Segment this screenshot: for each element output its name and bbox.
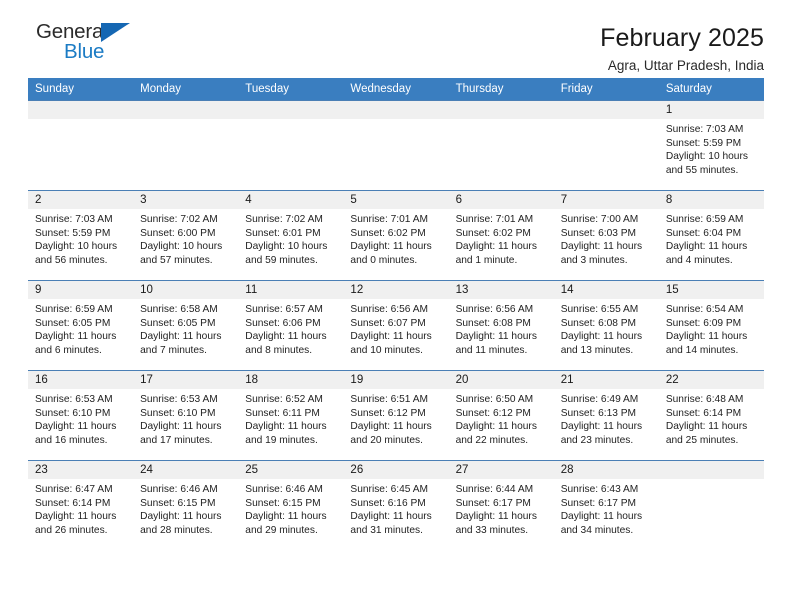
- sunrise-text: Sunrise: 7:02 AM: [245, 213, 337, 227]
- daylight-text: Daylight: 11 hours and 11 minutes.: [456, 330, 548, 357]
- sunset-text: Sunset: 6:03 PM: [561, 227, 653, 241]
- sunset-text: Sunset: 6:07 PM: [350, 317, 442, 331]
- sunset-text: Sunset: 6:00 PM: [140, 227, 232, 241]
- day-number: 6: [449, 191, 554, 209]
- sunrise-text: Sunrise: 6:53 AM: [35, 393, 127, 407]
- day-details: Sunrise: 7:03 AMSunset: 5:59 PMDaylight:…: [28, 209, 133, 267]
- daylight-text: Daylight: 11 hours and 4 minutes.: [666, 240, 758, 267]
- sunset-text: Sunset: 6:17 PM: [456, 497, 548, 511]
- day-number: 25: [238, 461, 343, 479]
- day-details: Sunrise: 6:53 AMSunset: 6:10 PMDaylight:…: [133, 389, 238, 447]
- daylight-text: Daylight: 11 hours and 13 minutes.: [561, 330, 653, 357]
- sunset-text: Sunset: 6:02 PM: [350, 227, 442, 241]
- logo-text-blue: Blue: [64, 42, 104, 63]
- sunset-text: Sunset: 5:59 PM: [666, 137, 758, 151]
- day-number: 1: [659, 101, 764, 119]
- weekday-header-tuesday: Tuesday: [238, 78, 343, 101]
- calendar-cell-day-1[interactable]: 1Sunrise: 7:03 AMSunset: 5:59 PMDaylight…: [659, 101, 764, 191]
- sunrise-text: Sunrise: 6:44 AM: [456, 483, 548, 497]
- day-details: Sunrise: 6:44 AMSunset: 6:17 PMDaylight:…: [449, 479, 554, 537]
- day-details: Sunrise: 6:43 AMSunset: 6:17 PMDaylight:…: [554, 479, 659, 537]
- day-details: Sunrise: 6:53 AMSunset: 6:10 PMDaylight:…: [28, 389, 133, 447]
- day-number: 8: [659, 191, 764, 209]
- calendar-cell-day-25[interactable]: 25Sunrise: 6:46 AMSunset: 6:15 PMDayligh…: [238, 461, 343, 551]
- calendar-cell-day-4[interactable]: 4Sunrise: 7:02 AMSunset: 6:01 PMDaylight…: [238, 191, 343, 281]
- calendar-grid: SundayMondayTuesdayWednesdayThursdayFrid…: [28, 78, 764, 551]
- sunset-text: Sunset: 6:12 PM: [350, 407, 442, 421]
- calendar-page: General Blue February 2025 Agra, Uttar P…: [0, 0, 792, 612]
- sunset-text: Sunset: 6:11 PM: [245, 407, 337, 421]
- daylight-text: Daylight: 10 hours and 57 minutes.: [140, 240, 232, 267]
- calendar-cell-day-28[interactable]: 28Sunrise: 6:43 AMSunset: 6:17 PMDayligh…: [554, 461, 659, 551]
- sunset-text: Sunset: 6:08 PM: [561, 317, 653, 331]
- daylight-text: Daylight: 11 hours and 17 minutes.: [140, 420, 232, 447]
- sunrise-text: Sunrise: 6:52 AM: [245, 393, 337, 407]
- sunrise-text: Sunrise: 7:01 AM: [456, 213, 548, 227]
- day-number: 9: [28, 281, 133, 299]
- day-number: 11: [238, 281, 343, 299]
- daylight-text: Daylight: 11 hours and 7 minutes.: [140, 330, 232, 357]
- sunset-text: Sunset: 5:59 PM: [35, 227, 127, 241]
- calendar-cell-day-5[interactable]: 5Sunrise: 7:01 AMSunset: 6:02 PMDaylight…: [343, 191, 448, 281]
- sunset-text: Sunset: 6:08 PM: [456, 317, 548, 331]
- day-number: [659, 461, 764, 479]
- calendar-cell-day-26[interactable]: 26Sunrise: 6:45 AMSunset: 6:16 PMDayligh…: [343, 461, 448, 551]
- day-number: 24: [133, 461, 238, 479]
- calendar-cell-day-8[interactable]: 8Sunrise: 6:59 AMSunset: 6:04 PMDaylight…: [659, 191, 764, 281]
- day-details: Sunrise: 6:46 AMSunset: 6:15 PMDaylight:…: [133, 479, 238, 537]
- calendar-cell-day-20[interactable]: 20Sunrise: 6:50 AMSunset: 6:12 PMDayligh…: [449, 371, 554, 461]
- day-number: 18: [238, 371, 343, 389]
- daylight-text: Daylight: 10 hours and 59 minutes.: [245, 240, 337, 267]
- sunset-text: Sunset: 6:10 PM: [140, 407, 232, 421]
- calendar-cell-day-23[interactable]: 23Sunrise: 6:47 AMSunset: 6:14 PMDayligh…: [28, 461, 133, 551]
- sunrise-text: Sunrise: 6:54 AM: [666, 303, 758, 317]
- day-number: [238, 101, 343, 119]
- daylight-text: Daylight: 11 hours and 23 minutes.: [561, 420, 653, 447]
- day-details: Sunrise: 6:50 AMSunset: 6:12 PMDaylight:…: [449, 389, 554, 447]
- calendar-cell-empty: [238, 101, 343, 191]
- day-number: [133, 101, 238, 119]
- daylight-text: Daylight: 10 hours and 56 minutes.: [35, 240, 127, 267]
- calendar-cell-day-16[interactable]: 16Sunrise: 6:53 AMSunset: 6:10 PMDayligh…: [28, 371, 133, 461]
- daylight-text: Daylight: 11 hours and 1 minute.: [456, 240, 548, 267]
- day-details: Sunrise: 6:48 AMSunset: 6:14 PMDaylight:…: [659, 389, 764, 447]
- calendar-week-row: 23Sunrise: 6:47 AMSunset: 6:14 PMDayligh…: [28, 461, 764, 551]
- sunset-text: Sunset: 6:17 PM: [561, 497, 653, 511]
- day-number: 14: [554, 281, 659, 299]
- weekday-header-sunday: Sunday: [28, 78, 133, 101]
- calendar-cell-day-21[interactable]: 21Sunrise: 6:49 AMSunset: 6:13 PMDayligh…: [554, 371, 659, 461]
- day-details: Sunrise: 6:59 AMSunset: 6:05 PMDaylight:…: [28, 299, 133, 357]
- sunrise-text: Sunrise: 6:47 AM: [35, 483, 127, 497]
- day-number: 5: [343, 191, 448, 209]
- sunrise-text: Sunrise: 6:45 AM: [350, 483, 442, 497]
- sunrise-text: Sunrise: 6:59 AM: [35, 303, 127, 317]
- day-details: Sunrise: 6:59 AMSunset: 6:04 PMDaylight:…: [659, 209, 764, 267]
- calendar-cell-day-7[interactable]: 7Sunrise: 7:00 AMSunset: 6:03 PMDaylight…: [554, 191, 659, 281]
- page-header: General Blue February 2025 Agra, Uttar P…: [28, 0, 764, 72]
- day-details: Sunrise: 6:49 AMSunset: 6:13 PMDaylight:…: [554, 389, 659, 447]
- day-number: 4: [238, 191, 343, 209]
- day-details: Sunrise: 7:02 AMSunset: 6:01 PMDaylight:…: [238, 209, 343, 267]
- sunrise-text: Sunrise: 6:48 AM: [666, 393, 758, 407]
- day-number: 21: [554, 371, 659, 389]
- general-blue-logo[interactable]: General Blue: [28, 22, 138, 70]
- calendar-cell-day-14[interactable]: 14Sunrise: 6:55 AMSunset: 6:08 PMDayligh…: [554, 281, 659, 371]
- day-number: 12: [343, 281, 448, 299]
- day-details: Sunrise: 6:55 AMSunset: 6:08 PMDaylight:…: [554, 299, 659, 357]
- day-details: Sunrise: 6:58 AMSunset: 6:05 PMDaylight:…: [133, 299, 238, 357]
- calendar-cell-day-22[interactable]: 22Sunrise: 6:48 AMSunset: 6:14 PMDayligh…: [659, 371, 764, 461]
- sunset-text: Sunset: 6:06 PM: [245, 317, 337, 331]
- sunset-text: Sunset: 6:15 PM: [245, 497, 337, 511]
- sunrise-text: Sunrise: 6:50 AM: [456, 393, 548, 407]
- calendar-cell-empty: [28, 101, 133, 191]
- calendar-cell-day-24[interactable]: 24Sunrise: 6:46 AMSunset: 6:15 PMDayligh…: [133, 461, 238, 551]
- daylight-text: Daylight: 11 hours and 25 minutes.: [666, 420, 758, 447]
- day-details: Sunrise: 7:03 AMSunset: 5:59 PMDaylight:…: [659, 119, 764, 177]
- calendar-cell-day-2[interactable]: 2Sunrise: 7:03 AMSunset: 5:59 PMDaylight…: [28, 191, 133, 281]
- calendar-body: 1Sunrise: 7:03 AMSunset: 5:59 PMDaylight…: [28, 101, 764, 551]
- day-details: Sunrise: 6:54 AMSunset: 6:09 PMDaylight:…: [659, 299, 764, 357]
- day-details: Sunrise: 6:56 AMSunset: 6:08 PMDaylight:…: [449, 299, 554, 357]
- calendar-cell-day-9[interactable]: 9Sunrise: 6:59 AMSunset: 6:05 PMDaylight…: [28, 281, 133, 371]
- day-details: Sunrise: 6:45 AMSunset: 6:16 PMDaylight:…: [343, 479, 448, 537]
- sunrise-text: Sunrise: 7:03 AM: [666, 123, 758, 137]
- weekday-header-monday: Monday: [133, 78, 238, 101]
- sunset-text: Sunset: 6:14 PM: [666, 407, 758, 421]
- daylight-text: Daylight: 11 hours and 16 minutes.: [35, 420, 127, 447]
- day-number: [554, 101, 659, 119]
- sunset-text: Sunset: 6:16 PM: [350, 497, 442, 511]
- sunrise-text: Sunrise: 6:51 AM: [350, 393, 442, 407]
- day-details: Sunrise: 7:00 AMSunset: 6:03 PMDaylight:…: [554, 209, 659, 267]
- calendar-cell-day-18[interactable]: 18Sunrise: 6:52 AMSunset: 6:11 PMDayligh…: [238, 371, 343, 461]
- calendar-cell-empty: [554, 101, 659, 191]
- sunrise-text: Sunrise: 6:46 AM: [140, 483, 232, 497]
- sunrise-text: Sunrise: 6:53 AM: [140, 393, 232, 407]
- daylight-text: Daylight: 11 hours and 6 minutes.: [35, 330, 127, 357]
- calendar-cell-day-12[interactable]: 12Sunrise: 6:56 AMSunset: 6:07 PMDayligh…: [343, 281, 448, 371]
- calendar-cell-day-19[interactable]: 19Sunrise: 6:51 AMSunset: 6:12 PMDayligh…: [343, 371, 448, 461]
- day-details: Sunrise: 6:46 AMSunset: 6:15 PMDaylight:…: [238, 479, 343, 537]
- calendar-cell-day-17[interactable]: 17Sunrise: 6:53 AMSunset: 6:10 PMDayligh…: [133, 371, 238, 461]
- day-number: [28, 101, 133, 119]
- sunset-text: Sunset: 6:05 PM: [140, 317, 232, 331]
- sunset-text: Sunset: 6:05 PM: [35, 317, 127, 331]
- sunrise-text: Sunrise: 6:57 AM: [245, 303, 337, 317]
- sunrise-text: Sunrise: 7:02 AM: [140, 213, 232, 227]
- daylight-text: Daylight: 11 hours and 33 minutes.: [456, 510, 548, 537]
- day-number: 10: [133, 281, 238, 299]
- sunrise-text: Sunrise: 6:56 AM: [456, 303, 548, 317]
- sunrise-text: Sunrise: 7:00 AM: [561, 213, 653, 227]
- calendar-week-row: 9Sunrise: 6:59 AMSunset: 6:05 PMDaylight…: [28, 281, 764, 371]
- day-details: Sunrise: 6:52 AMSunset: 6:11 PMDaylight:…: [238, 389, 343, 447]
- day-details: Sunrise: 7:01 AMSunset: 6:02 PMDaylight:…: [449, 209, 554, 267]
- daylight-text: Daylight: 11 hours and 14 minutes.: [666, 330, 758, 357]
- sunrise-text: Sunrise: 7:01 AM: [350, 213, 442, 227]
- calendar-cell-empty: [343, 101, 448, 191]
- day-number: 27: [449, 461, 554, 479]
- day-number: 15: [659, 281, 764, 299]
- calendar-cell-empty: [133, 101, 238, 191]
- sunrise-text: Sunrise: 6:46 AM: [245, 483, 337, 497]
- calendar-cell-day-13[interactable]: 13Sunrise: 6:56 AMSunset: 6:08 PMDayligh…: [449, 281, 554, 371]
- weekday-header-wednesday: Wednesday: [343, 78, 448, 101]
- page-title: February 2025: [600, 24, 764, 52]
- day-details: Sunrise: 7:02 AMSunset: 6:00 PMDaylight:…: [133, 209, 238, 267]
- day-number: 13: [449, 281, 554, 299]
- day-number: 19: [343, 371, 448, 389]
- calendar-week-row: 1Sunrise: 7:03 AMSunset: 5:59 PMDaylight…: [28, 101, 764, 191]
- day-number: 20: [449, 371, 554, 389]
- calendar-header-row: SundayMondayTuesdayWednesdayThursdayFrid…: [28, 78, 764, 101]
- daylight-text: Daylight: 11 hours and 22 minutes.: [456, 420, 548, 447]
- day-number: 2: [28, 191, 133, 209]
- day-number: 23: [28, 461, 133, 479]
- sunrise-text: Sunrise: 6:56 AM: [350, 303, 442, 317]
- daylight-text: Daylight: 11 hours and 3 minutes.: [561, 240, 653, 267]
- day-number: [449, 101, 554, 119]
- day-details: Sunrise: 6:56 AMSunset: 6:07 PMDaylight:…: [343, 299, 448, 357]
- sunrise-text: Sunrise: 6:55 AM: [561, 303, 653, 317]
- sunset-text: Sunset: 6:10 PM: [35, 407, 127, 421]
- daylight-text: Daylight: 11 hours and 0 minutes.: [350, 240, 442, 267]
- calendar-cell-day-6[interactable]: 6Sunrise: 7:01 AMSunset: 6:02 PMDaylight…: [449, 191, 554, 281]
- calendar-cell-day-15[interactable]: 15Sunrise: 6:54 AMSunset: 6:09 PMDayligh…: [659, 281, 764, 371]
- sunset-text: Sunset: 6:14 PM: [35, 497, 127, 511]
- day-number: 16: [28, 371, 133, 389]
- day-number: 7: [554, 191, 659, 209]
- sunset-text: Sunset: 6:15 PM: [140, 497, 232, 511]
- logo-triangle-icon: [101, 23, 130, 42]
- calendar-cell-day-3[interactable]: 3Sunrise: 7:02 AMSunset: 6:00 PMDaylight…: [133, 191, 238, 281]
- day-number: 17: [133, 371, 238, 389]
- weekday-header-saturday: Saturday: [659, 78, 764, 101]
- day-number: 3: [133, 191, 238, 209]
- daylight-text: Daylight: 11 hours and 10 minutes.: [350, 330, 442, 357]
- sunset-text: Sunset: 6:04 PM: [666, 227, 758, 241]
- sunrise-text: Sunrise: 7:03 AM: [35, 213, 127, 227]
- sunrise-text: Sunrise: 6:43 AM: [561, 483, 653, 497]
- day-details: Sunrise: 7:01 AMSunset: 6:02 PMDaylight:…: [343, 209, 448, 267]
- calendar-week-row: 2Sunrise: 7:03 AMSunset: 5:59 PMDaylight…: [28, 191, 764, 281]
- calendar-week-row: 16Sunrise: 6:53 AMSunset: 6:10 PMDayligh…: [28, 371, 764, 461]
- daylight-text: Daylight: 11 hours and 34 minutes.: [561, 510, 653, 537]
- day-number: [343, 101, 448, 119]
- sunset-text: Sunset: 6:12 PM: [456, 407, 548, 421]
- title-block: February 2025 Agra, Uttar Pradesh, India: [600, 22, 764, 74]
- calendar-cell-day-10[interactable]: 10Sunrise: 6:58 AMSunset: 6:05 PMDayligh…: [133, 281, 238, 371]
- sunset-text: Sunset: 6:09 PM: [666, 317, 758, 331]
- daylight-text: Daylight: 11 hours and 31 minutes.: [350, 510, 442, 537]
- calendar-cell-day-27[interactable]: 27Sunrise: 6:44 AMSunset: 6:17 PMDayligh…: [449, 461, 554, 551]
- day-number: 26: [343, 461, 448, 479]
- daylight-text: Daylight: 11 hours and 26 minutes.: [35, 510, 127, 537]
- page-subtitle: Agra, Uttar Pradesh, India: [600, 59, 764, 74]
- day-number: 22: [659, 371, 764, 389]
- daylight-text: Daylight: 11 hours and 19 minutes.: [245, 420, 337, 447]
- day-details: Sunrise: 6:51 AMSunset: 6:12 PMDaylight:…: [343, 389, 448, 447]
- sunrise-text: Sunrise: 6:49 AM: [561, 393, 653, 407]
- daylight-text: Daylight: 10 hours and 55 minutes.: [666, 150, 758, 177]
- sunset-text: Sunset: 6:13 PM: [561, 407, 653, 421]
- calendar-cell-empty: [449, 101, 554, 191]
- daylight-text: Daylight: 11 hours and 20 minutes.: [350, 420, 442, 447]
- sunset-text: Sunset: 6:01 PM: [245, 227, 337, 241]
- daylight-text: Daylight: 11 hours and 28 minutes.: [140, 510, 232, 537]
- calendar-cell-empty: [659, 461, 764, 551]
- daylight-text: Daylight: 11 hours and 8 minutes.: [245, 330, 337, 357]
- sunrise-text: Sunrise: 6:58 AM: [140, 303, 232, 317]
- day-details: Sunrise: 6:57 AMSunset: 6:06 PMDaylight:…: [238, 299, 343, 357]
- day-details: Sunrise: 6:47 AMSunset: 6:14 PMDaylight:…: [28, 479, 133, 537]
- sunrise-text: Sunrise: 6:59 AM: [666, 213, 758, 227]
- weekday-header-thursday: Thursday: [449, 78, 554, 101]
- calendar-cell-day-11[interactable]: 11Sunrise: 6:57 AMSunset: 6:06 PMDayligh…: [238, 281, 343, 371]
- daylight-text: Daylight: 11 hours and 29 minutes.: [245, 510, 337, 537]
- day-number: 28: [554, 461, 659, 479]
- sunset-text: Sunset: 6:02 PM: [456, 227, 548, 241]
- weekday-header-friday: Friday: [554, 78, 659, 101]
